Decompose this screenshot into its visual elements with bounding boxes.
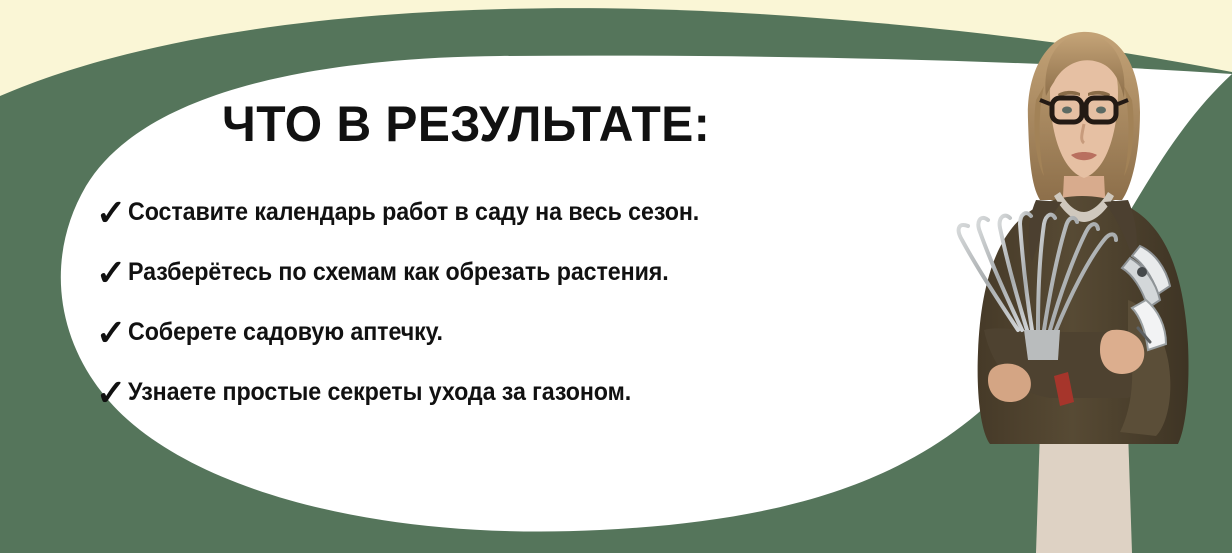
list-item-label: Составите календарь работ в саду на весь… — [128, 192, 870, 232]
list-item: ✓ Разберётесь по схемам как обрезать рас… — [96, 252, 926, 312]
check-icon: ✓ — [96, 313, 130, 353]
banner-content: ЧТО В РЕЗУЛЬТАТЕ: ✓ Составите календарь … — [0, 0, 940, 553]
list-item: ✓ Соберете садовую аптечку. — [96, 312, 926, 372]
benefits-checklist: ✓ Составите календарь работ в саду на ве… — [96, 192, 926, 432]
promo-banner: ЧТО В РЕЗУЛЬТАТЕ: ✓ Составите календарь … — [0, 0, 1232, 553]
list-item-label: Разберётесь по схемам как обрезать расте… — [128, 252, 870, 292]
check-icon: ✓ — [96, 193, 130, 233]
check-icon: ✓ — [96, 253, 130, 293]
page-title: ЧТО В РЕЗУЛЬТАТЕ: — [222, 97, 710, 151]
list-item: ✓ Составите календарь работ в саду на ве… — [96, 192, 926, 252]
list-item-label: Соберете садовую аптечку. — [128, 312, 870, 352]
list-item-label: Узнаете простые секреты ухода за газоном… — [128, 372, 870, 412]
list-item: ✓ Узнаете простые секреты ухода за газон… — [96, 372, 926, 432]
check-icon: ✓ — [96, 373, 130, 413]
